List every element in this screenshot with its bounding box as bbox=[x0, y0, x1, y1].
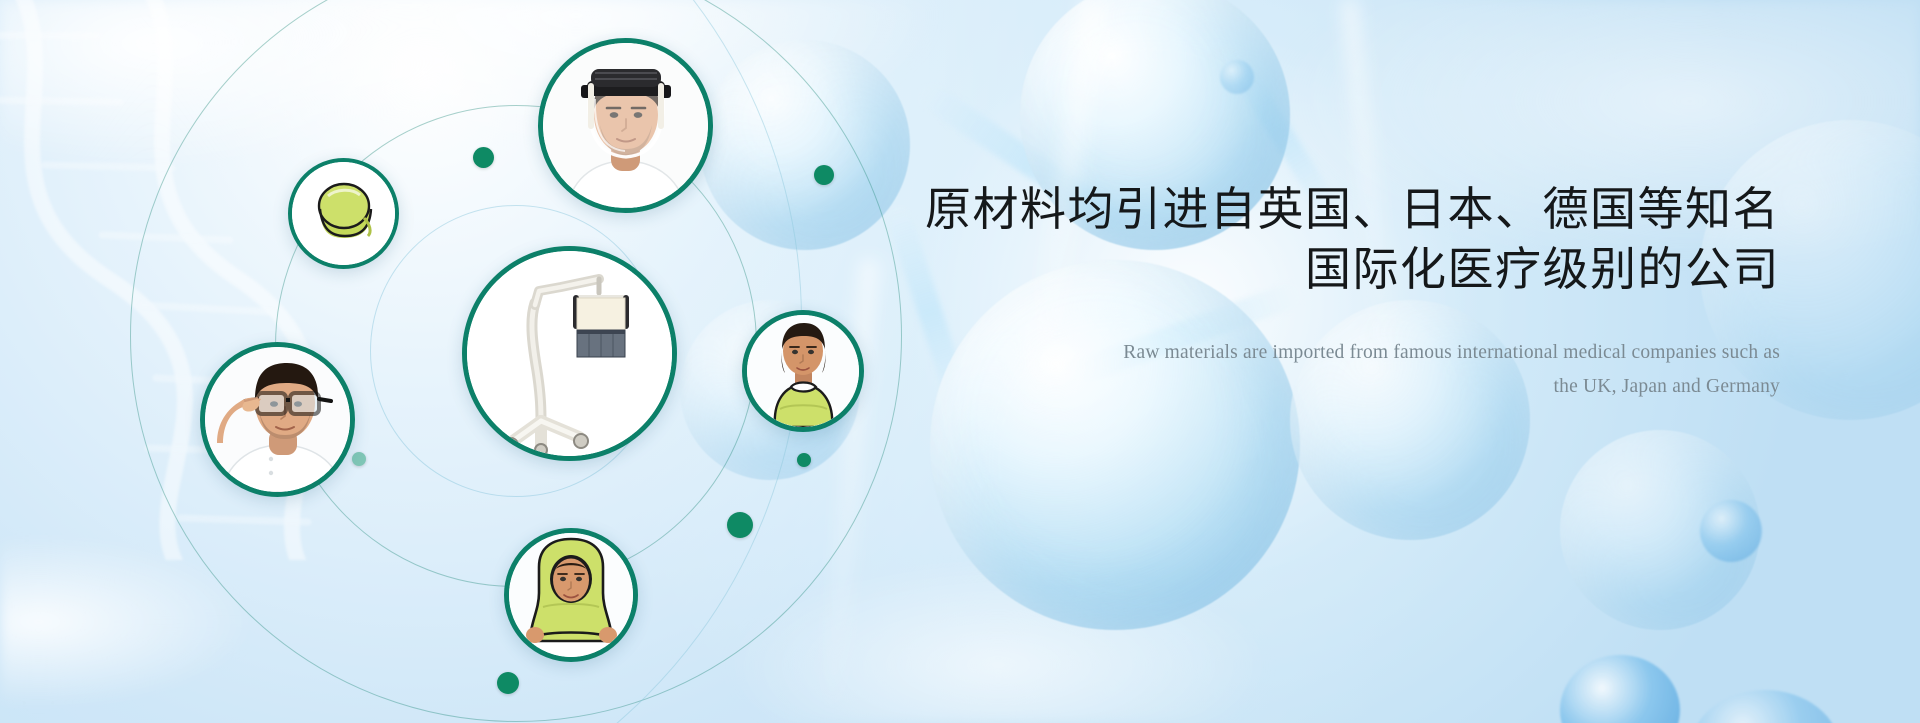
bubble-image-thyroid-collar-woman bbox=[747, 315, 859, 427]
bubble-thyroid-collar-woman[interactable] bbox=[742, 310, 864, 432]
bubble-image-protective-hood-woman bbox=[509, 533, 633, 657]
orbit-dot bbox=[814, 165, 834, 185]
accent-bubble bbox=[1700, 500, 1762, 562]
headline-line-2: 国际化医疗级别的公司 bbox=[900, 240, 1780, 300]
accent-bubble bbox=[1220, 60, 1254, 94]
bubble-protective-hood-woman[interactable] bbox=[504, 528, 638, 662]
orbit-dot bbox=[797, 453, 811, 467]
subtitle-line-2: the UK, Japan and Germany bbox=[900, 370, 1780, 404]
hero-banner: 原材料均引进自英国、日本、德国等知名 国际化医疗级别的公司 Raw materi… bbox=[0, 0, 1920, 723]
banner-text-block: 原材料均引进自英国、日本、德国等知名 国际化医疗级别的公司 Raw materi… bbox=[900, 180, 1780, 404]
orbit-dot bbox=[497, 672, 519, 694]
thyroid-collar-woman-illustration bbox=[747, 315, 859, 427]
bubble-image-face-shield-man bbox=[543, 43, 708, 208]
lead-glasses-man-illustration bbox=[205, 347, 350, 492]
banner-subtitle: Raw materials are imported from famous i… bbox=[900, 336, 1780, 404]
bubble-image-mobile-x-ray-barrier bbox=[467, 251, 672, 456]
accent-bubble bbox=[1690, 690, 1840, 723]
protective-hood-woman-illustration bbox=[509, 533, 633, 657]
lead-cap-illustration bbox=[292, 162, 395, 265]
subtitle-line-1: Raw materials are imported from famous i… bbox=[900, 336, 1780, 370]
bubble-lead-glasses-man[interactable] bbox=[200, 342, 355, 497]
face-shield-man-illustration bbox=[543, 43, 708, 208]
bubble-lead-cap[interactable] bbox=[288, 158, 399, 269]
accent-bubble bbox=[1560, 655, 1680, 723]
bubble-image-lead-cap bbox=[292, 162, 395, 265]
bubble-mobile-x-ray-barrier[interactable] bbox=[462, 246, 677, 461]
orbit-dot bbox=[727, 512, 753, 538]
orbit-dot bbox=[473, 147, 494, 168]
headline-line-1: 原材料均引进自英国、日本、德国等知名 bbox=[925, 183, 1780, 235]
bubble-image-lead-glasses-man bbox=[205, 347, 350, 492]
mobile-x-ray-barrier-illustration bbox=[467, 251, 672, 456]
orbit-dot bbox=[352, 452, 366, 466]
bubble-face-shield-man[interactable] bbox=[538, 38, 713, 213]
banner-headline: 原材料均引进自英国、日本、德国等知名 国际化医疗级别的公司 bbox=[900, 180, 1780, 300]
